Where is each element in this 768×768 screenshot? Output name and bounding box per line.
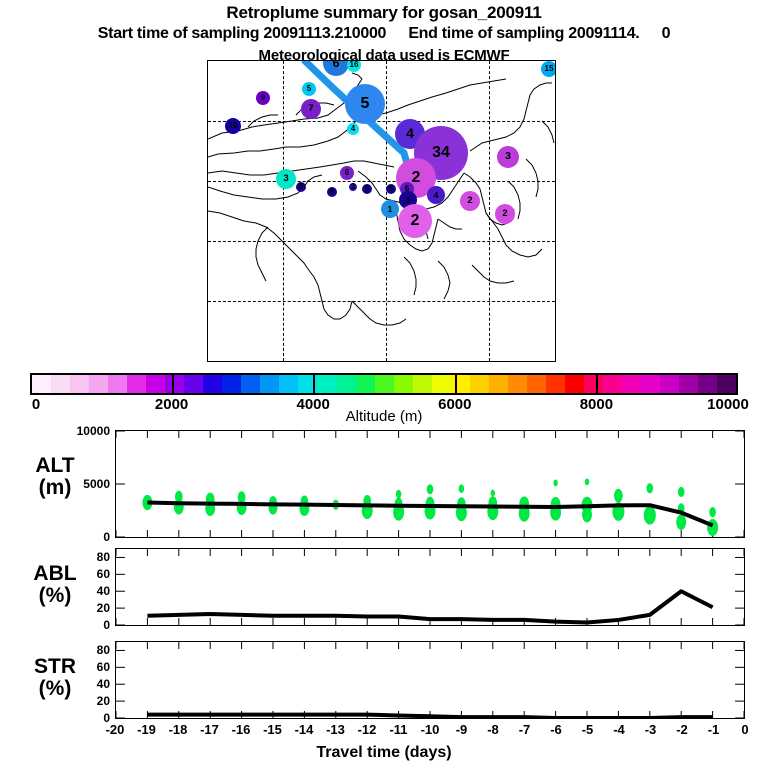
alt-plot-area (116, 431, 744, 537)
map-marker: 5 (386, 184, 396, 194)
y-tick-label: 10000 (55, 424, 110, 438)
scatter-point (585, 478, 589, 485)
x-tick-label: -19 (137, 722, 156, 737)
scatter-point (707, 519, 718, 536)
colorbar-segment (32, 375, 51, 393)
map-marker: 5 (362, 184, 372, 194)
scatter-point (491, 490, 495, 497)
colorbar-divider (172, 373, 174, 395)
colorbar-segment (565, 375, 584, 393)
map-marker: 5 (302, 82, 316, 96)
map-marker: 7 (301, 99, 321, 119)
colorbar-segment (165, 375, 184, 393)
colorbar-segment (70, 375, 89, 393)
scatter-point (582, 507, 592, 522)
scatter-point (676, 515, 686, 530)
colorbar-segment (470, 375, 489, 393)
x-tick-label: -14 (295, 722, 314, 737)
colorbar-segment (146, 375, 165, 393)
colorbar-segment (260, 375, 279, 393)
colorbar-segment (527, 375, 546, 393)
y-tick-label: 60 (55, 660, 110, 674)
y-tick-label: 0 (55, 618, 110, 632)
map-marker: 3 (349, 183, 357, 191)
x-tick-label: -17 (200, 722, 219, 737)
y-tick-label: 80 (55, 550, 110, 564)
x-tick-label: -8 (487, 722, 499, 737)
scatter-point (459, 485, 464, 494)
y-tick-label: 20 (55, 694, 110, 708)
retroplume-map: 6161555971044343362556141222883 (207, 60, 556, 362)
colorbar-segment (451, 375, 470, 393)
x-tick-label: -18 (169, 722, 188, 737)
map-marker: 3 (276, 169, 296, 189)
abl-panel (115, 548, 745, 626)
map-marker: 2 (460, 191, 480, 211)
alt-panel (115, 430, 745, 538)
altitude-colorbar (30, 373, 738, 395)
map-marker: 4 (427, 186, 445, 204)
str-plot-area (116, 642, 744, 718)
y-tick-label: 60 (55, 567, 110, 581)
colorbar-segment (317, 375, 336, 393)
x-tick-label: -6 (550, 722, 562, 737)
map-marker: 5 (345, 84, 385, 124)
scatter-point (644, 506, 656, 525)
x-tick-label: -5 (582, 722, 594, 737)
colorbar-segment (337, 375, 356, 393)
colorbar-segment (89, 375, 108, 393)
x-tick-label: -4 (613, 722, 625, 737)
scatter-point (427, 484, 434, 494)
scatter-point (678, 487, 685, 497)
scatter-point (396, 490, 401, 499)
x-tick-label: -9 (456, 722, 468, 737)
colorbar-segment (222, 375, 241, 393)
colorbar-segment (641, 375, 660, 393)
start-time-value: 20091113.210000 (263, 25, 386, 42)
y-tick-label: 40 (55, 584, 110, 598)
map-marker: 8 (296, 182, 306, 192)
map-marker: 1 (381, 200, 399, 218)
y-tick-label: 40 (55, 677, 110, 691)
colorbar-segment (432, 375, 451, 393)
abl-plot-area (116, 549, 744, 625)
y-tick-label: 0 (55, 711, 110, 725)
x-tick-label: 0 (741, 722, 748, 737)
scatter-point (709, 507, 716, 517)
colorbar-axis-label: Altitude (m) (0, 408, 768, 425)
end-time-value-extra: 0 (662, 25, 671, 42)
colorbar-segment (413, 375, 432, 393)
str-line (147, 715, 712, 718)
start-time-label: Start time of sampling (98, 25, 259, 42)
y-tick-label: 5000 (55, 477, 110, 491)
map-marker: 4 (347, 123, 359, 135)
colorbar-segment (241, 375, 260, 393)
colorbar-divider (313, 373, 315, 395)
scatter-point (553, 480, 557, 487)
map-marker: 8 (327, 187, 337, 197)
end-time-label: End time of sampling (408, 25, 564, 42)
x-tick-label: -2 (676, 722, 688, 737)
map-marker: 2 (398, 204, 432, 238)
scatter-point (647, 483, 654, 493)
map-marker: 10 (225, 118, 241, 134)
colorbar-segment (375, 375, 394, 393)
colorbar-segment (508, 375, 527, 393)
colorbar-segment (489, 375, 508, 393)
colorbar-segment (622, 375, 641, 393)
colorbar-divider (596, 373, 598, 395)
x-tick-label: -3 (645, 722, 657, 737)
colorbar-segment (698, 375, 717, 393)
str-panel (115, 641, 745, 719)
colorbar-segment (394, 375, 413, 393)
page-title: Retroplume summary for gosan_200911 (0, 3, 768, 23)
colorbar-segment (203, 375, 222, 393)
x-tick-label: -1 (708, 722, 720, 737)
y-tick-label: 20 (55, 601, 110, 615)
colorbar-segment (127, 375, 146, 393)
y-tick-label: 0 (55, 530, 110, 544)
x-tick-label: -20 (106, 722, 125, 737)
colorbar-divider (455, 373, 457, 395)
colorbar-segment (660, 375, 679, 393)
colorbar-segment (603, 375, 622, 393)
abl-line (147, 591, 712, 622)
colorbar-segment (184, 375, 203, 393)
sampling-time-line: Start time of sampling 20091113.210000 E… (0, 25, 768, 43)
end-time-value: 20091114. (568, 25, 639, 42)
x-tick-label: -11 (389, 722, 407, 737)
y-tick-label: 80 (55, 643, 110, 657)
map-marker: 3 (497, 146, 519, 168)
x-tick-label: -10 (421, 722, 440, 737)
x-tick-label: -15 (263, 722, 282, 737)
map-marker: 15 (541, 61, 556, 77)
colorbar-segment (679, 375, 698, 393)
scatter-point (614, 489, 623, 503)
map-marker: 6 (340, 166, 354, 180)
colorbar-segment (51, 375, 70, 393)
colorbar-segment (279, 375, 298, 393)
map-marker: 9 (256, 91, 270, 105)
colorbar-segment (584, 375, 603, 393)
map-marker: 2 (495, 204, 515, 224)
x-axis-label: Travel time (days) (0, 744, 768, 762)
colorbar-segment (108, 375, 127, 393)
colorbar-segment (717, 375, 736, 393)
x-tick-label: -13 (326, 722, 345, 737)
x-tick-label: -12 (358, 722, 377, 737)
x-tick-label: -7 (519, 722, 531, 737)
x-tick-label: -16 (232, 722, 251, 737)
colorbar-segment (356, 375, 375, 393)
colorbar-segment (546, 375, 565, 393)
